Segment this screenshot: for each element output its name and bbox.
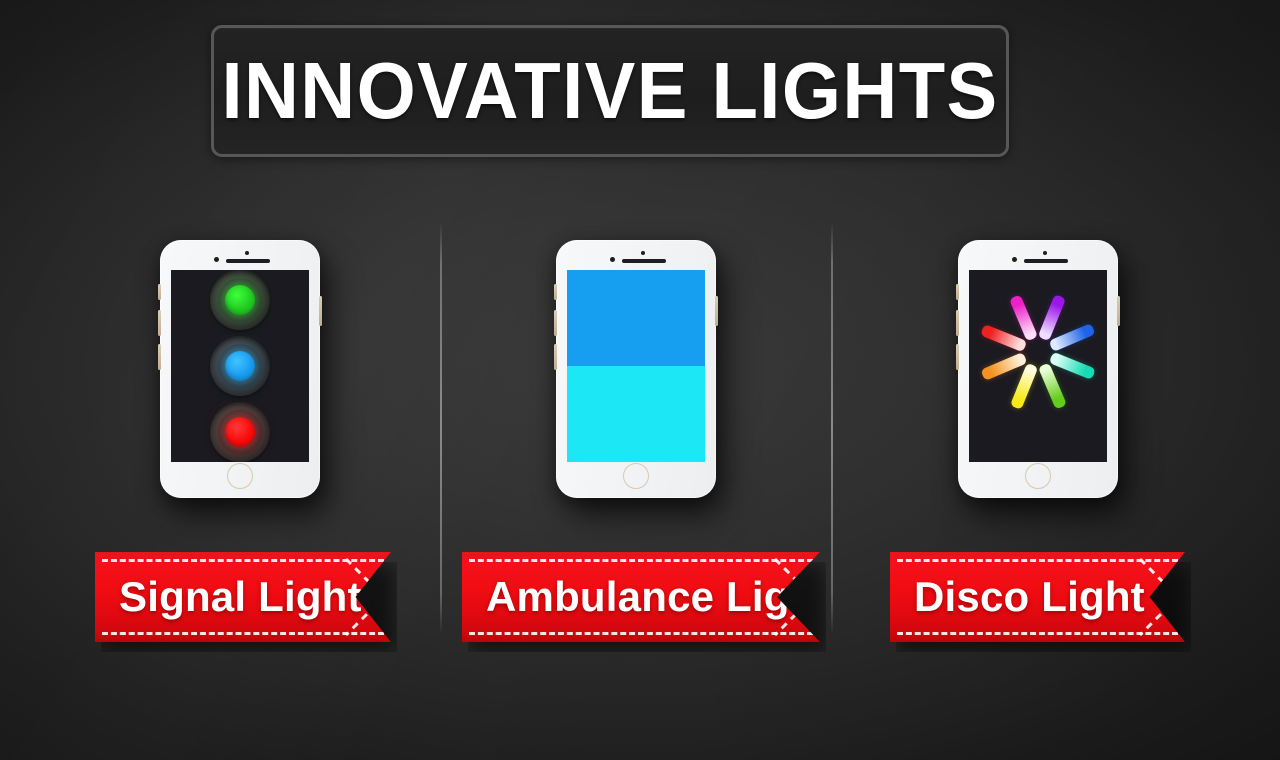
phone-mockup-signal[interactable] [160, 240, 320, 498]
phone-mockup-ambulance[interactable] [556, 240, 716, 498]
ribbon-dash-bottom [469, 632, 813, 635]
phone-speaker-icon [1024, 259, 1068, 263]
phone-screen-disco[interactable] [969, 270, 1107, 462]
column-disco-light: Disco Light [828, 0, 1248, 760]
ribbon-label: Signal Light [119, 573, 362, 621]
phone-camera-icon [1012, 257, 1017, 262]
phone-side-button [554, 284, 557, 300]
green-light[interactable] [210, 270, 270, 330]
blue-light-bulb [225, 351, 255, 381]
ribbon-disco-light[interactable]: Disco Light [890, 552, 1185, 642]
phone-sensor-icon [641, 251, 645, 255]
phone-power-button [715, 296, 718, 326]
phone-home-button[interactable] [227, 463, 253, 489]
ribbon-dash-top [469, 559, 813, 562]
phone-side-button [956, 284, 959, 300]
phone-mockup-disco[interactable] [958, 240, 1118, 498]
lower-band[interactable] [567, 366, 705, 462]
green-light-socket [218, 278, 262, 322]
ribbon-dash-bottom [102, 632, 384, 635]
phone-sensor-icon [1043, 251, 1047, 255]
phone-camera-icon [610, 257, 615, 262]
phone-side-button [158, 284, 161, 300]
phone-side-button [956, 310, 959, 336]
phone-screen-signal[interactable] [171, 270, 309, 462]
phone-home-button[interactable] [1025, 463, 1051, 489]
phone-body [160, 240, 320, 498]
phone-speaker-icon [226, 259, 270, 263]
column-ambulance-light: Ambulance Light [426, 0, 846, 760]
phone-side-button [158, 344, 161, 370]
blue-light-socket [218, 344, 262, 388]
phone-side-button [956, 344, 959, 370]
bar-yellow [1010, 363, 1038, 410]
bar-magenta [1009, 294, 1038, 341]
phone-sensor-icon [245, 251, 249, 255]
ribbon-banner[interactable]: Ambulance Light [462, 552, 820, 642]
phone-speaker-icon [622, 259, 666, 263]
bar-green [1038, 363, 1067, 410]
ribbon-dash-bottom [897, 632, 1178, 635]
phone-screen-ambulance[interactable] [567, 270, 705, 462]
green-light-bulb [225, 285, 255, 315]
phone-side-button [158, 310, 161, 336]
phone-body [556, 240, 716, 498]
phone-power-button [1117, 296, 1120, 326]
signal-light-app [171, 270, 309, 462]
ambulance-light-app [567, 270, 705, 462]
phone-camera-icon [214, 257, 219, 262]
ribbon-signal-light[interactable]: Signal Light [95, 552, 391, 642]
ribbon-dash-top [102, 559, 384, 562]
blue-light[interactable] [210, 336, 270, 396]
ribbon-label: Disco Light [914, 573, 1145, 621]
app-screen: INNOVATIVE LIGHTS [0, 0, 1280, 760]
phone-body [958, 240, 1118, 498]
ribbon-dash-top [897, 559, 1178, 562]
ribbon-ambulance-light[interactable]: Ambulance Light [462, 552, 820, 642]
bar-blue [1049, 323, 1096, 352]
phone-power-button [319, 296, 322, 326]
bar-teal [1049, 352, 1096, 380]
ribbon-banner[interactable]: Signal Light [95, 552, 391, 642]
phone-side-button [554, 344, 557, 370]
red-light-socket [218, 410, 262, 454]
red-light[interactable] [210, 402, 270, 462]
bar-red [980, 324, 1027, 352]
upper-band[interactable] [567, 270, 705, 366]
phone-home-button[interactable] [623, 463, 649, 489]
phone-side-button [554, 310, 557, 336]
ribbon-banner[interactable]: Disco Light [890, 552, 1185, 642]
disco-light-app [969, 270, 1107, 462]
column-signal-light: Signal Light [30, 0, 450, 760]
red-light-bulb [225, 417, 255, 447]
